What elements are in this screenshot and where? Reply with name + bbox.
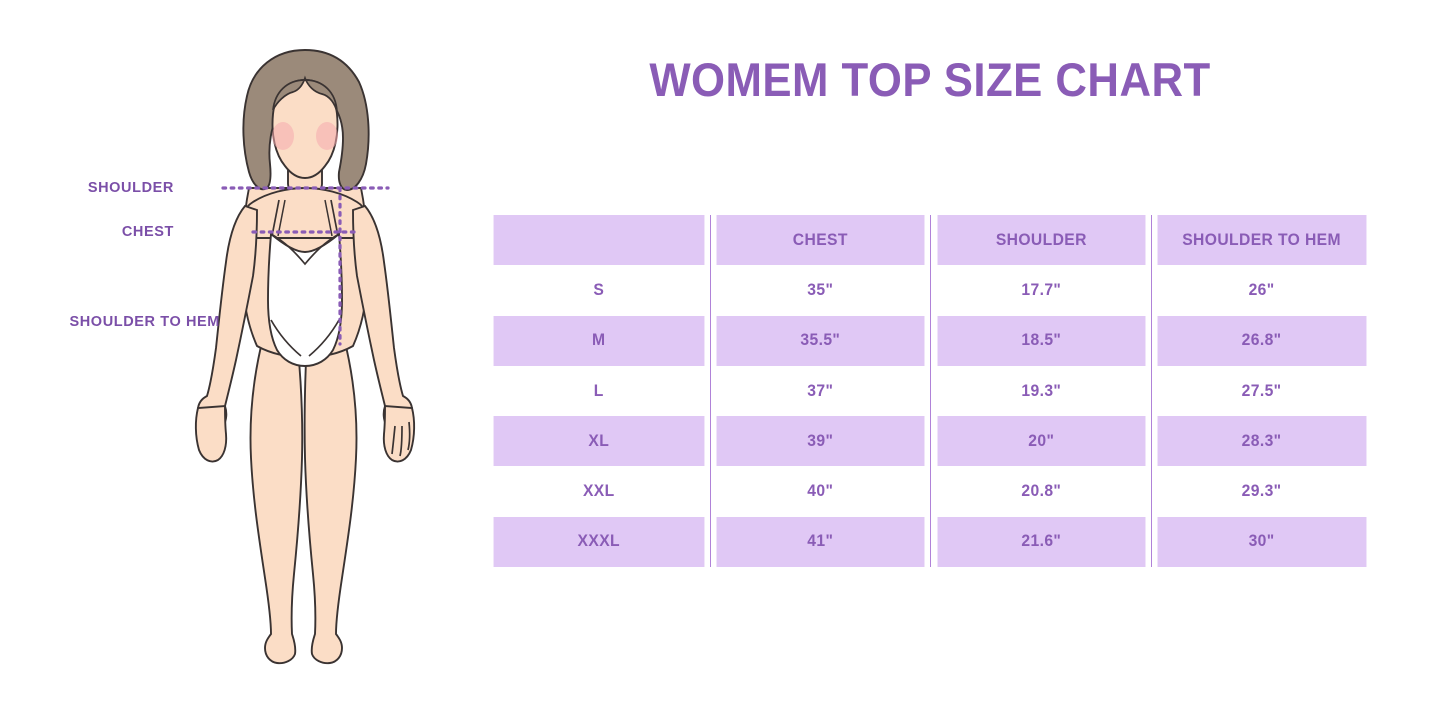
- table-row: M 35.5" 18.5" 26.8": [488, 316, 1372, 366]
- illustration-panel: SHOULDER CHEST SHOULDER TO HEM: [0, 0, 470, 723]
- cell-size: XXXL: [494, 517, 705, 567]
- cell-shoulder-to-hem: 26.8": [1157, 316, 1367, 366]
- cell-size: M: [494, 316, 705, 366]
- cell-chest: 37": [716, 366, 926, 416]
- cell-chest: 40": [716, 466, 926, 516]
- cell-shoulder-to-hem: 28.3": [1157, 416, 1367, 466]
- cell-size: S: [494, 265, 705, 315]
- cell-shoulder: 18.5": [936, 316, 1146, 366]
- measure-label-chest: CHEST: [122, 224, 174, 240]
- table-row: XXXL 41" 21.6" 30": [488, 517, 1372, 567]
- table-body: S 35" 17.7" 26" M 35.5" 18.5" 26.8" L 37…: [488, 265, 1372, 567]
- left-leg: [251, 338, 303, 663]
- size-chart-table: CHEST SHOULDER SHOULDER TO HEM S 35" 17.…: [488, 215, 1372, 567]
- cell-shoulder: 17.7": [936, 265, 1146, 315]
- table-header: CHEST SHOULDER SHOULDER TO HEM: [488, 215, 1372, 265]
- measure-label-shoulder: SHOULDER: [88, 180, 174, 196]
- column-header-shoulder-to-hem: SHOULDER TO HEM: [1157, 215, 1367, 265]
- column-header-shoulder: SHOULDER: [936, 215, 1146, 265]
- cell-chest: 41": [716, 517, 926, 567]
- cell-shoulder: 19.3": [936, 366, 1146, 416]
- cell-shoulder-to-hem: 30": [1157, 517, 1367, 567]
- table-row: XXL 40" 20.8" 29.3": [488, 466, 1372, 516]
- cell-chest: 35": [716, 265, 926, 315]
- left-cheek-blush: [272, 122, 294, 150]
- page-title: WOMEM TOP SIZE CHART: [519, 55, 1341, 104]
- cell-shoulder: 20": [936, 416, 1146, 466]
- left-hand: [196, 406, 226, 462]
- right-leg: [305, 338, 357, 663]
- cell-chest: 39": [716, 416, 926, 466]
- size-chart-table-container: CHEST SHOULDER SHOULDER TO HEM S 35" 17.…: [488, 215, 1372, 567]
- table-header-row: CHEST SHOULDER SHOULDER TO HEM: [488, 215, 1372, 265]
- column-header-chest: CHEST: [716, 215, 926, 265]
- cell-shoulder-to-hem: 27.5": [1157, 366, 1367, 416]
- cell-size: L: [494, 366, 705, 416]
- column-header-size: [494, 215, 705, 265]
- cell-shoulder-to-hem: 26": [1157, 265, 1367, 315]
- cell-shoulder-to-hem: 29.3": [1157, 466, 1367, 516]
- table-row: S 35" 17.7" 26": [488, 265, 1372, 315]
- table-row: L 37" 19.3" 27.5": [488, 366, 1372, 416]
- bodysuit: [268, 234, 342, 366]
- cell-size: XL: [494, 416, 705, 466]
- table-row: XL 39" 20" 28.3": [488, 416, 1372, 466]
- cell-shoulder: 20.8": [936, 466, 1146, 516]
- cell-shoulder: 21.6": [936, 517, 1146, 567]
- cell-size: XXL: [494, 466, 705, 516]
- right-cheek-blush: [316, 122, 338, 150]
- cell-chest: 35.5": [716, 316, 926, 366]
- measure-label-shoulder-to-hem: SHOULDER TO HEM: [69, 314, 220, 330]
- female-body-illustration: [175, 38, 435, 688]
